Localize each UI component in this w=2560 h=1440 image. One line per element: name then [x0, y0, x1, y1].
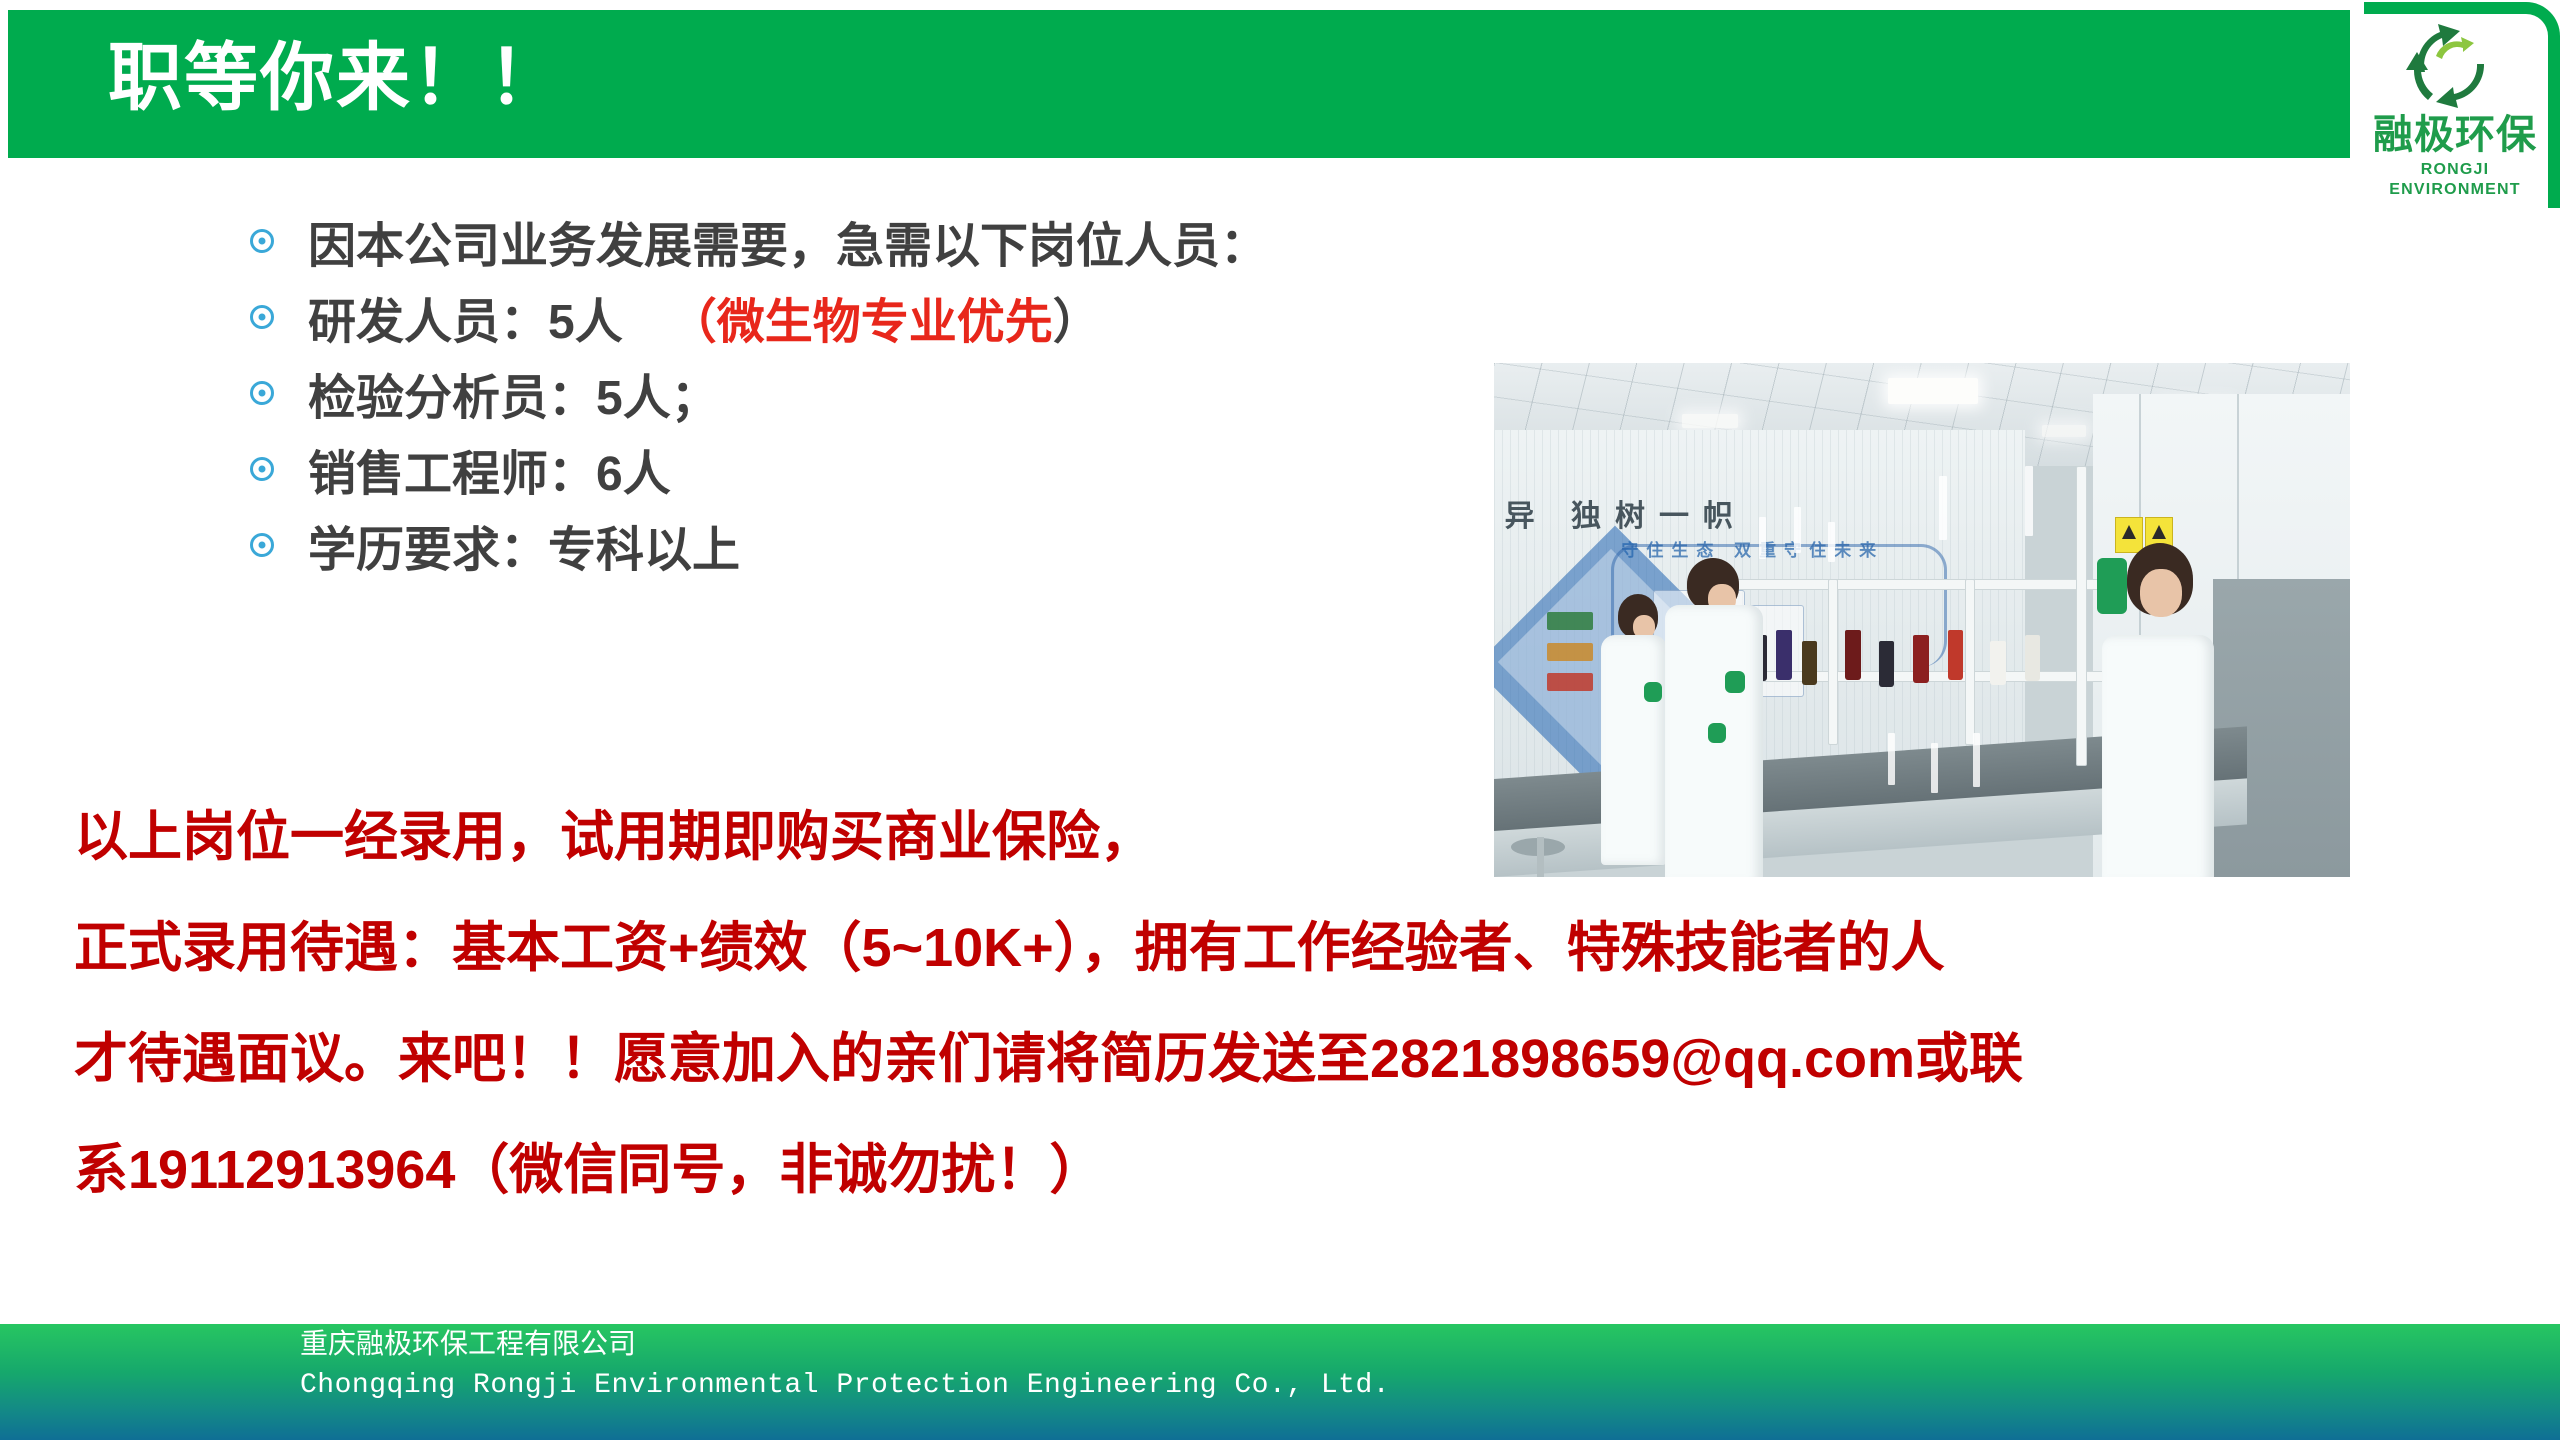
photo-reagent-bottle: [1776, 630, 1792, 680]
list-item: 检验分析员：5人；: [250, 358, 1510, 428]
photo-burette: [1973, 733, 1980, 787]
photo-shelf-post: [1828, 579, 1838, 745]
list-item-highlight: （微生物专业优先: [669, 282, 1053, 352]
logo-company-en: RONGJI ENVIRONMENT: [2356, 160, 2554, 200]
photo-reagent-bottle: [1879, 641, 1894, 687]
bullet-dot-icon: [250, 533, 274, 557]
footer-company-en: Chongqing Rongji Environmental Protectio…: [300, 1368, 1390, 1404]
photo-glass-tube: [1939, 476, 1947, 540]
photo-reagent-bottle: [2025, 635, 2040, 681]
company-logo: 融极环保 RONGJI ENVIRONMENT: [2350, 0, 2560, 208]
photo-glass-tube: [1828, 522, 1835, 562]
list-item-label: 检验分析员：5人；: [308, 358, 719, 428]
photo-ceiling-light: [1682, 414, 1738, 428]
recycling-circle-icon: [2398, 12, 2506, 116]
list-item-label: 销售工程师：6人: [308, 434, 671, 504]
list-item-label: 因本公司业务发展需要，急需以下岗位人员：: [308, 206, 1268, 276]
photo-wall-chip: [1547, 643, 1593, 661]
photo-reagent-bottle: [1948, 630, 1963, 680]
bullet-dot-icon: [250, 229, 274, 253]
photo-reagent-bottle: [1802, 641, 1817, 685]
notice-line: 正式录用待遇：基本工资+绩效（5~10K+），拥有工作经验者、特殊技能者的人: [74, 893, 2494, 1004]
photo-ceiling-light: [2042, 425, 2086, 437]
photo-ceiling-light: [1888, 378, 1978, 404]
notice-line: 才待遇面议。来吧！！愿意加入的亲们请将简历发送至2821898659@qq.co…: [74, 1004, 2494, 1115]
photo-shelf-post: [1965, 579, 1975, 745]
list-item-highlight-tail: ）: [1053, 282, 1101, 352]
notice-line: 以上岗位一经录用，试用期即购买商业保险，: [74, 782, 2494, 893]
photo-reagent-bottle: [1845, 630, 1861, 680]
photo-person-face: [2140, 569, 2182, 617]
list-item-label: 研发人员：5人: [308, 282, 623, 352]
photo-glass-tube: [1794, 507, 1801, 553]
list-item-label: 学历要求：专科以上: [308, 510, 740, 580]
photo-reagent-bottle: [1990, 641, 2006, 685]
photo-reagent-bottle: [1913, 635, 1929, 683]
page-title: 职等你来！！: [108, 26, 564, 130]
photo-person-glove: [1708, 723, 1726, 743]
photo-glass-tube: [2025, 466, 2033, 536]
photo-shelf-post: [2076, 466, 2087, 766]
photo-person-glove: [1644, 682, 1662, 702]
footer-company-cn: 重庆融极环保工程有限公司: [300, 1326, 636, 1362]
list-item: 销售工程师：6人: [250, 434, 1510, 504]
photo-wall-chip: [1547, 612, 1593, 630]
photo-person-glove: [2097, 558, 2127, 614]
photo-wall-chip: [1547, 673, 1593, 691]
list-item: 因本公司业务发展需要，急需以下岗位人员：: [250, 206, 1510, 276]
job-bullet-list: 因本公司业务发展需要，急需以下岗位人员： 研发人员：5人 （微生物专业优先 ） …: [250, 206, 1510, 586]
bullet-dot-icon: [250, 381, 274, 405]
recruitment-notice-text: 以上岗位一经录用，试用期即购买商业保险， 正式录用待遇：基本工资+绩效（5~10…: [74, 782, 2494, 1226]
photo-wall-text-1: 异 独树一帜: [1505, 491, 1747, 535]
notice-line: 系19112913964（微信同号，非诚勿扰！）: [74, 1115, 2494, 1226]
bullet-dot-icon: [250, 457, 274, 481]
logo-company-cn: 融极环保: [2356, 112, 2554, 158]
list-item: 研发人员：5人 （微生物专业优先 ）: [250, 282, 1510, 352]
photo-shelf: [1725, 579, 2104, 590]
photo-hazard-sign: [2115, 517, 2143, 553]
photo-person-glove: [1725, 671, 1745, 693]
bullet-dot-icon: [250, 305, 274, 329]
photo-burette: [1888, 733, 1895, 785]
list-item: 学历要求：专科以上: [250, 510, 1510, 580]
slide-canvas: 职等你来！！ 融极环保 RONGJI ENVIRONMENT 因本公司业务发展需…: [0, 0, 2560, 1440]
photo-glass-tube: [1759, 517, 1766, 559]
